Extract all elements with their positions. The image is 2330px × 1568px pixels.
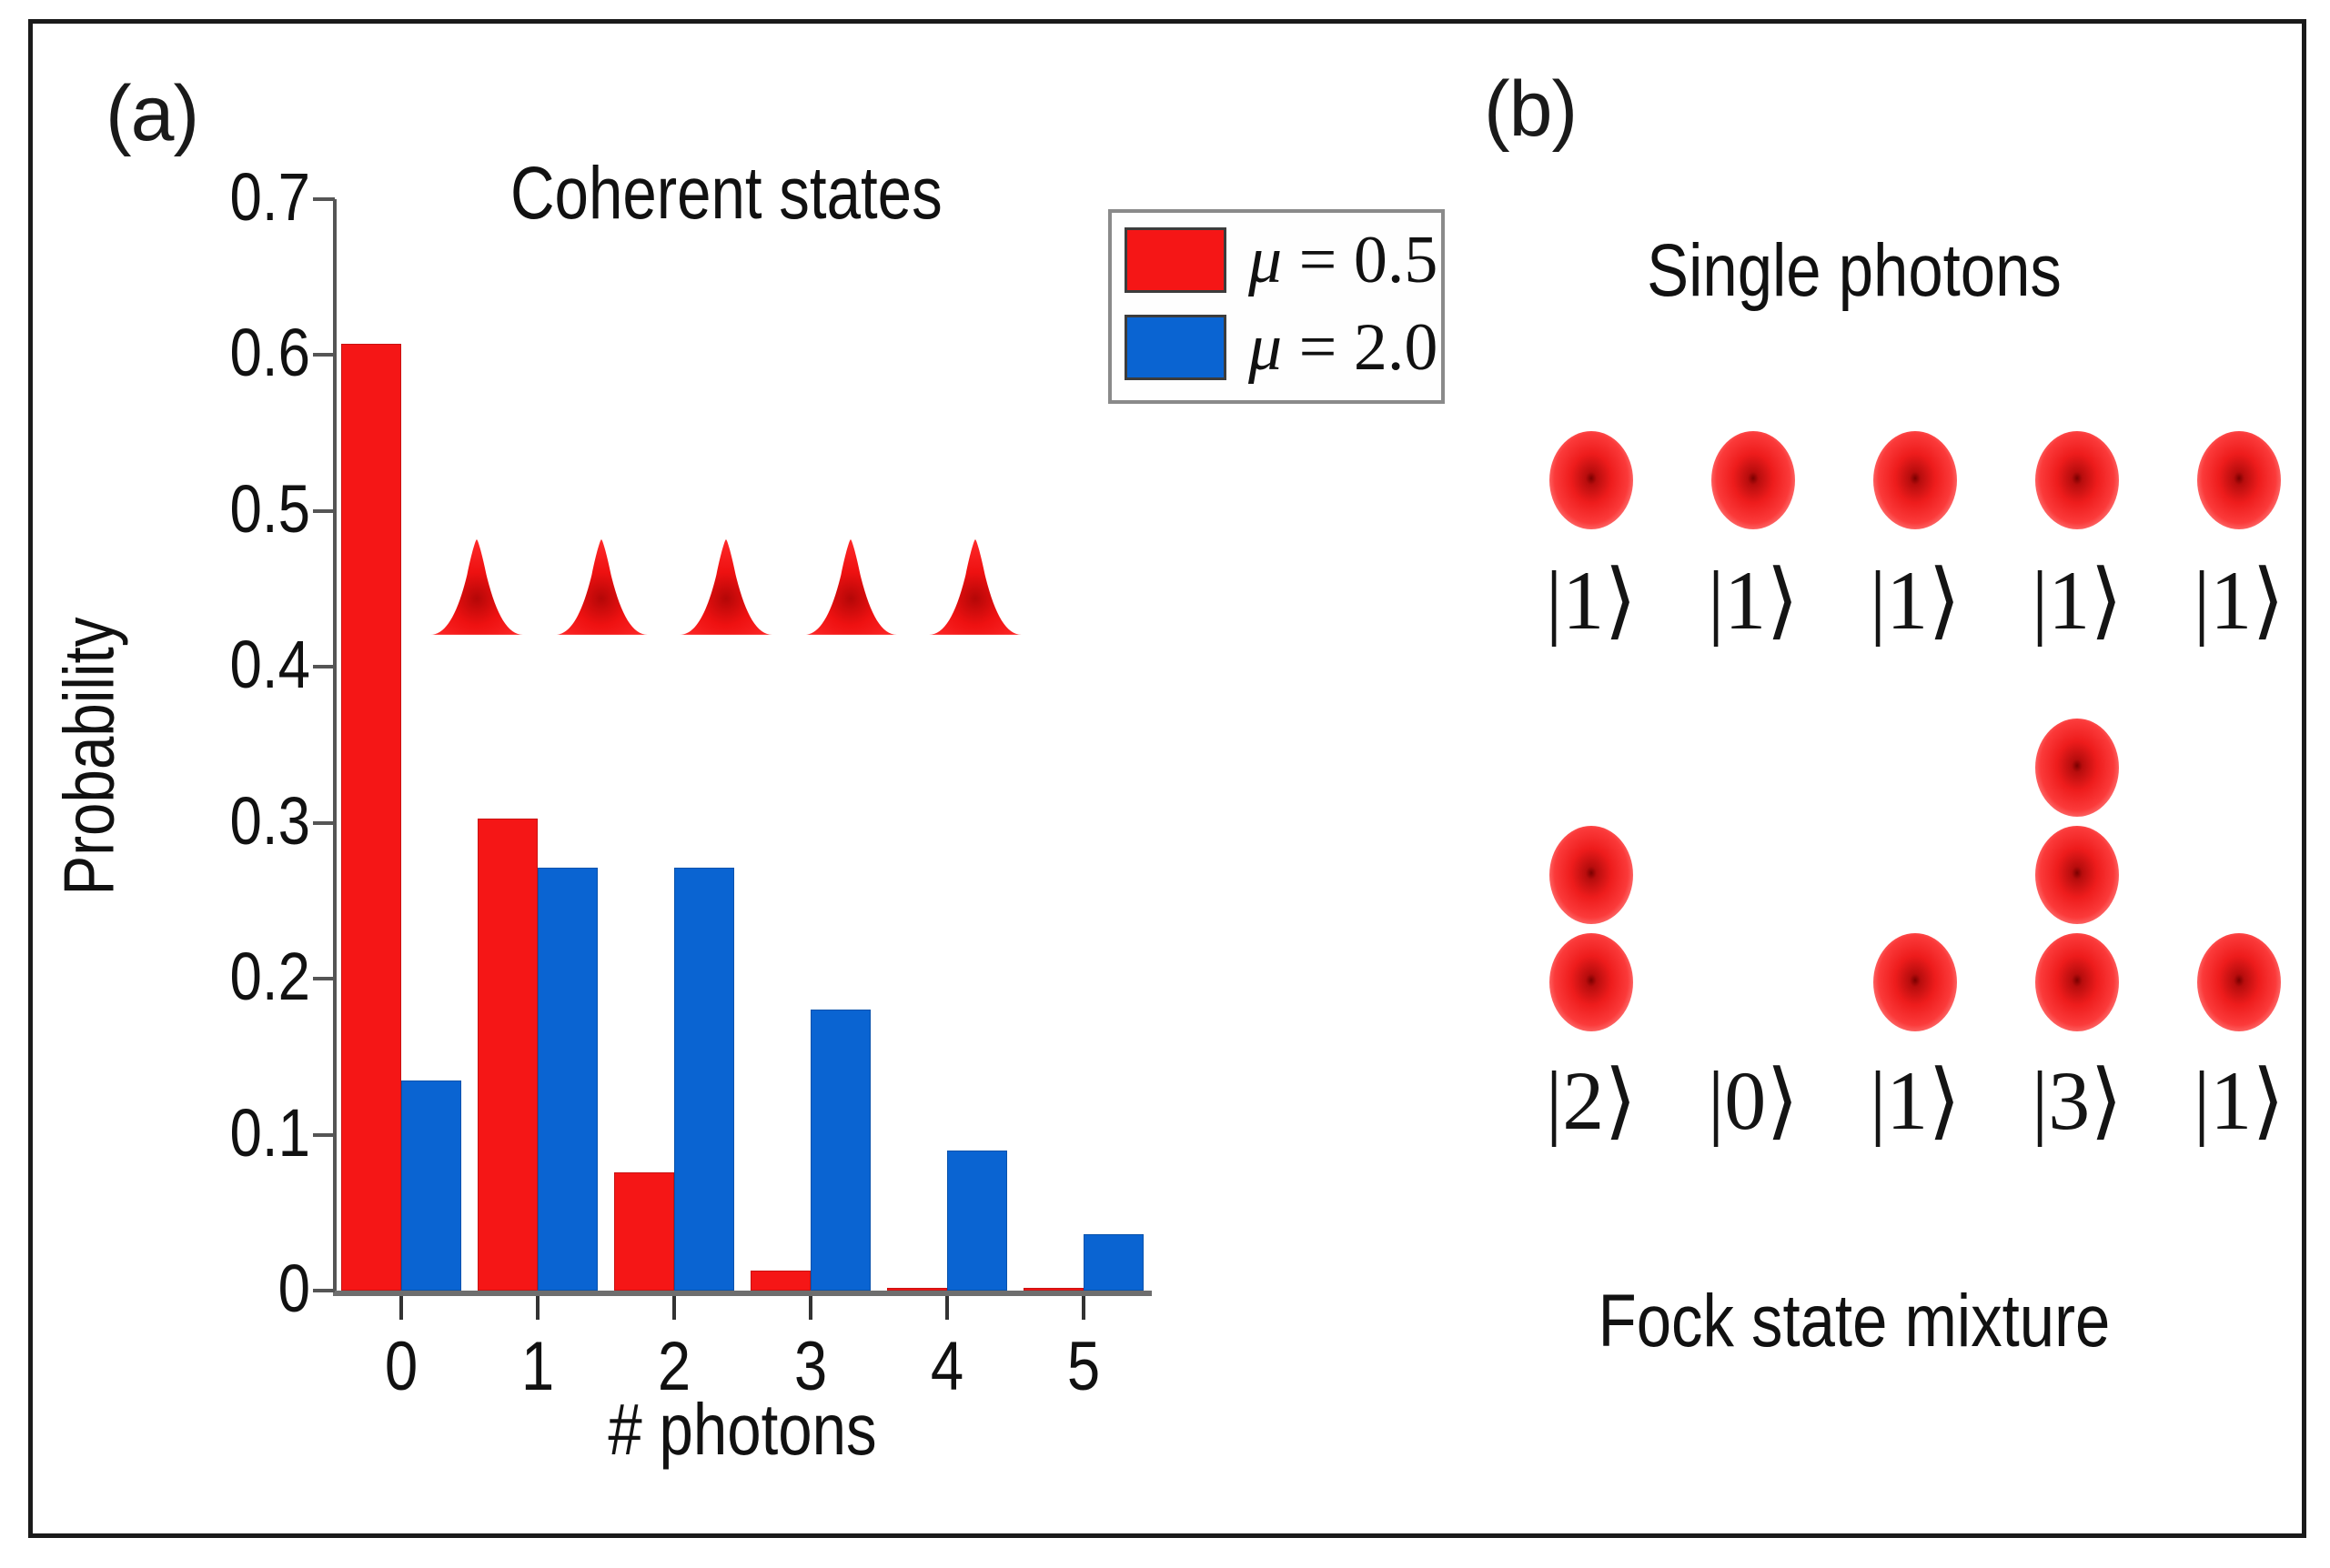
x-tick: [1082, 1296, 1085, 1320]
x-tick-label: 2: [627, 1327, 721, 1406]
y-tick-label: 0.3: [96, 782, 311, 859]
y-tick-label: 0.7: [96, 158, 311, 236]
ket-label: |1⟩: [1676, 551, 1831, 648]
x-tick-label: 0: [354, 1327, 448, 1406]
legend-swatch-red: [1125, 227, 1226, 293]
gaussian-pulse-icon: [802, 538, 899, 636]
y-tick: [313, 1133, 335, 1137]
panel-a-chart: (a) Coherent states Probability # photon…: [33, 24, 1397, 1533]
gaussian-pulse-icon: [429, 538, 525, 636]
y-tick: [313, 509, 335, 513]
photon-dot-icon: [2197, 431, 2281, 529]
photon-dot-icon: [2035, 719, 2119, 817]
photon-dot-icon: [2035, 431, 2119, 529]
y-tick-label: 0.5: [96, 470, 311, 548]
photon-dot-icon: [1549, 826, 1633, 924]
x-tick: [536, 1296, 540, 1320]
photon-dot-icon: [1873, 933, 1957, 1031]
plot-area: 012345: [333, 199, 1152, 1291]
bar-mu-2-0-n0: [401, 1081, 461, 1291]
photon-dot-icon: [1711, 431, 1795, 529]
x-tick-label: 5: [1036, 1327, 1130, 1406]
bar-mu-2-0-n5: [1084, 1234, 1144, 1291]
y-tick: [313, 1289, 335, 1292]
panel-a-label: (a): [106, 69, 198, 159]
x-tick: [945, 1296, 949, 1320]
x-tick: [809, 1296, 812, 1320]
ket-label: |1⟩: [2162, 551, 2316, 648]
legend-entry-mu-2-0: μ = 2.0: [1125, 309, 1437, 386]
x-tick-label: 4: [900, 1327, 994, 1406]
y-tick-label: 0.6: [96, 314, 311, 391]
photon-dot-icon: [2197, 933, 2281, 1031]
y-tick: [313, 821, 335, 825]
bar-mu-0-5-n1: [478, 819, 538, 1291]
bar-mu-0-5-n5: [1024, 1288, 1084, 1291]
chart-legend: μ = 0.5 μ = 2.0: [1108, 209, 1445, 404]
x-axis-line: [333, 1291, 1152, 1296]
bar-mu-0-5-n3: [751, 1271, 811, 1291]
bar-mu-2-0-n2: [674, 868, 734, 1291]
x-tick-label: 1: [490, 1327, 584, 1406]
y-tick: [313, 197, 335, 201]
ket-label: |2⟩: [1514, 1051, 1669, 1149]
legend-swatch-blue: [1125, 315, 1226, 380]
ket-label: |1⟩: [1514, 551, 1669, 648]
gaussian-pulse-icon: [927, 538, 1024, 636]
panel-b-label: (b): [1484, 65, 1577, 155]
bar-mu-0-5-n2: [614, 1172, 674, 1291]
ket-label: |0⟩: [1676, 1051, 1831, 1149]
y-tick-label: 0.2: [96, 938, 311, 1015]
photon-dot-icon: [2035, 933, 2119, 1031]
ket-label: |1⟩: [2000, 551, 2154, 648]
ket-label: |1⟩: [1838, 1051, 1992, 1149]
ket-label: |1⟩: [2162, 1051, 2316, 1149]
figure-frame: (a) Coherent states Probability # photon…: [28, 19, 2306, 1538]
x-tick: [672, 1296, 676, 1320]
legend-entry-mu-0-5: μ = 0.5: [1125, 222, 1437, 298]
photon-dot-icon: [1873, 431, 1957, 529]
ket-label: |3⟩: [2000, 1051, 2154, 1149]
bar-mu-0-5-n4: [887, 1288, 947, 1291]
legend-mu-symbol-blue: μ: [1248, 310, 1282, 385]
y-tick-label: 0: [96, 1250, 311, 1327]
gaussian-pulse-icon: [553, 538, 650, 636]
y-axis-line: [333, 199, 337, 1291]
legend-mu-symbol-red: μ: [1248, 223, 1282, 297]
y-tick: [313, 977, 335, 980]
single-photons-caption: Single photons: [1470, 228, 2237, 314]
y-tick-label: 0.4: [96, 626, 311, 703]
fock-state-mixture-caption: Fock state mixture: [1470, 1279, 2237, 1364]
gaussian-pulse-icon: [678, 538, 774, 636]
photon-dot-icon: [1549, 431, 1633, 529]
x-tick-label: 3: [763, 1327, 857, 1406]
panel-b-photon-states: (b) Single photons |1⟩|1⟩|1⟩|1⟩|1⟩ |2⟩|0…: [1397, 24, 2311, 1533]
y-tick: [313, 353, 335, 357]
photon-dot-icon: [1549, 933, 1633, 1031]
y-axis-label: Probability: [48, 542, 131, 970]
bar-mu-2-0-n4: [947, 1151, 1007, 1291]
y-tick: [313, 665, 335, 668]
bar-mu-2-0-n3: [811, 1010, 871, 1291]
photon-dot-icon: [2035, 826, 2119, 924]
bar-mu-2-0-n1: [538, 868, 598, 1291]
y-tick-label: 0.1: [96, 1094, 311, 1171]
ket-label: |1⟩: [1838, 551, 1992, 648]
bar-mu-0-5-n0: [341, 344, 401, 1291]
x-tick: [399, 1296, 403, 1320]
